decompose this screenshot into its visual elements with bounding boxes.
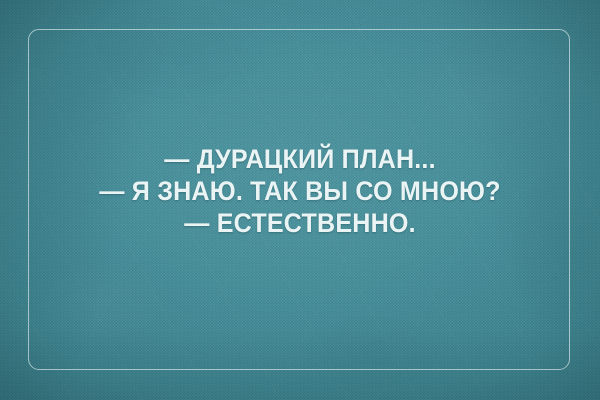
quote-line-2: — Я ЗНАЮ. ТАК ВЫ СО МНОЮ? [21, 175, 579, 207]
quote-text-block: — ДУРАЦКИЙ ПЛАН... — Я ЗНАЮ. ТАК ВЫ СО М… [0, 143, 600, 239]
quote-line-1: — ДУРАЦКИЙ ПЛАН... [21, 143, 579, 175]
quote-line-3: — ЕСТЕСТВЕННО. [21, 207, 579, 239]
quote-card: — ДУРАЦКИЙ ПЛАН... — Я ЗНАЮ. ТАК ВЫ СО М… [0, 0, 600, 400]
